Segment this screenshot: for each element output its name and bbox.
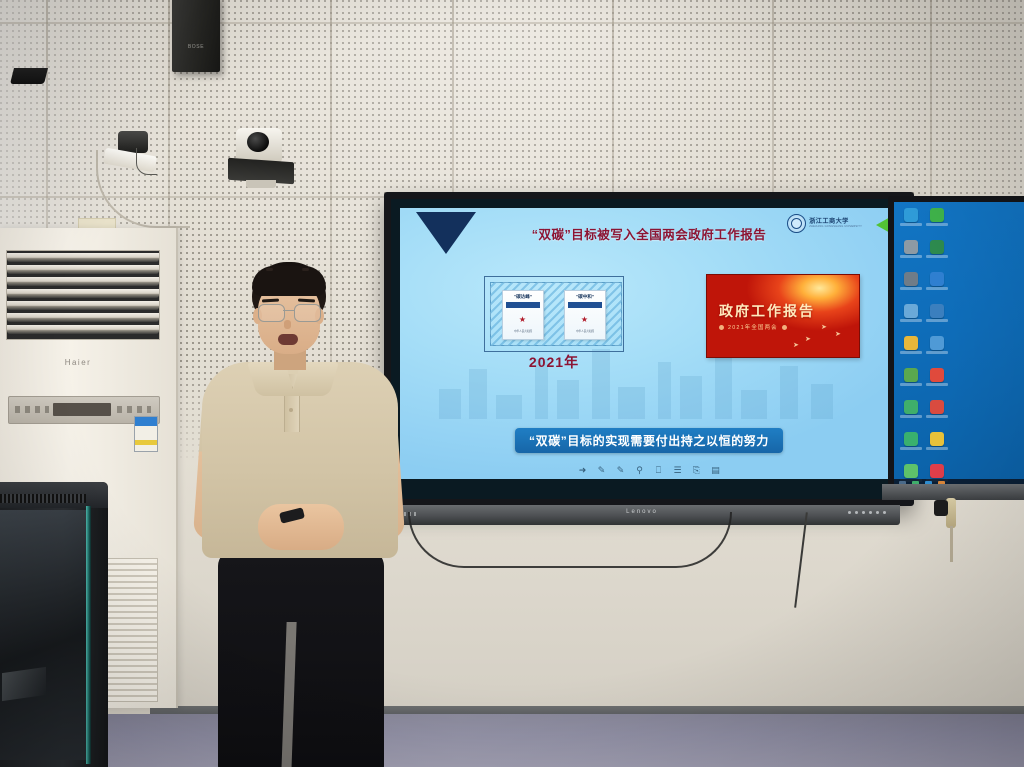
desktop-icon[interactable] <box>924 208 950 234</box>
desktop-icon[interactable] <box>924 272 950 298</box>
grid-icon[interactable]: ▤ <box>711 465 721 475</box>
floor-sheen <box>0 714 1024 767</box>
windows-desktop[interactable] <box>894 202 1024 490</box>
document-band <box>568 302 602 308</box>
star-icon: ★ <box>518 315 527 324</box>
desktop-icon[interactable] <box>898 208 924 234</box>
document-card: “碳中和” ★ 中华人民共和国 <box>564 290 606 340</box>
poster-dot-icon <box>782 325 787 330</box>
desktop-icon[interactable] <box>898 432 924 458</box>
presentation-toolbar[interactable]: ➜ ✎ ✎ ⚲ ⎕ ☰ ⎘ ▤ <box>578 465 721 475</box>
presenter-trousers <box>218 550 384 767</box>
document-footer: 中华人民共和国 <box>565 329 605 333</box>
diagram-year-label: 2021年 <box>478 352 630 372</box>
ptz-camera-icon <box>236 128 282 162</box>
presenter-eye <box>302 268 309 271</box>
camera-lens-icon <box>247 132 269 152</box>
speaker-bracket <box>10 68 48 84</box>
document-card: “碳达峰” ★ 中华人民共和国 <box>502 290 544 340</box>
desktop-icon[interactable] <box>924 400 950 426</box>
display-screen[interactable]: 浙江工商大学 ZHEJIANG GONGSHANG UNIVERSITY “双碳… <box>391 199 907 499</box>
display-cable <box>408 512 732 568</box>
desktop-icon[interactable] <box>898 240 924 266</box>
slide-diagram: “碳达峰” ★ 中华人民共和国 “碳中和” ★ 中华人民共和国 2021年 <box>478 270 630 378</box>
ac-button-group-right[interactable] <box>117 406 151 413</box>
classroom-photo-scene: BOSE Haier <box>0 0 1024 767</box>
poster-dot-icon <box>719 325 724 330</box>
document-caption: “碳中和” <box>565 294 605 300</box>
wall-panel-seam-horizontal <box>0 22 1024 24</box>
desktop-icon[interactable] <box>898 368 924 394</box>
shirt-button <box>289 408 293 412</box>
cursor-icon[interactable]: ➜ <box>578 465 588 475</box>
export-icon[interactable]: ⎘ <box>692 465 702 475</box>
desktop-icon[interactable] <box>924 368 950 394</box>
rack-top-panel <box>0 482 108 508</box>
presenter-nose <box>284 320 291 329</box>
poster-title: 政府工作报告 <box>719 301 815 321</box>
ac-button-group-left[interactable] <box>15 406 49 413</box>
rack-glass-door[interactable] <box>0 510 86 760</box>
slide-banner: “双碳”目标的实现需要付出持之以恒的努力 <box>515 428 783 453</box>
desktop-icon[interactable] <box>898 400 924 426</box>
document-caption: “碳达峰” <box>503 294 543 300</box>
star-icon: ★ <box>580 315 589 324</box>
rack-vent <box>0 494 86 503</box>
presenter-eye <box>266 268 273 271</box>
highlighter-icon[interactable]: ✎ <box>616 465 626 475</box>
glasses-lens <box>294 304 321 322</box>
glass-reflection <box>2 667 46 701</box>
poster-bird-decoration: ➤ ➤ ➤ ➤ <box>791 321 851 347</box>
desktop-icon[interactable] <box>898 336 924 362</box>
desktop-icon[interactable] <box>898 304 924 330</box>
display-control-buttons[interactable] <box>848 511 886 514</box>
monitor-cables <box>940 498 970 538</box>
desktop-icon[interactable] <box>924 240 950 266</box>
glasses-bridge <box>283 310 294 311</box>
energy-label-sticker <box>134 416 158 452</box>
speaker-brand-label: BOSE <box>172 44 220 50</box>
screen-icon[interactable]: ⎕ <box>654 465 664 475</box>
ac-display <box>53 403 111 416</box>
rack-door-edge <box>86 506 91 764</box>
desktop-icon[interactable] <box>924 432 950 458</box>
ptz-camera-mount <box>246 180 276 188</box>
equipment-rack-cabinet <box>0 482 108 767</box>
slide-title: “双碳”目标被写入全国两会政府工作报告 <box>400 224 898 243</box>
poster-subtitle-row: 2021年全国两会 <box>719 323 787 331</box>
interactive-display-panel[interactable]: 浙江工商大学 ZHEJIANG GONGSHANG UNIVERSITY “双碳… <box>384 192 914 506</box>
air-conditioner-grille <box>6 250 160 340</box>
secondary-monitor[interactable] <box>888 196 1024 496</box>
magnifier-icon[interactable]: ⚲ <box>635 465 645 475</box>
desktop-icon[interactable] <box>924 336 950 362</box>
desktop-icon-grid[interactable] <box>898 208 950 496</box>
presenter-fringe <box>252 266 326 296</box>
desktop-icon[interactable] <box>898 272 924 298</box>
list-icon[interactable]: ☰ <box>673 465 683 475</box>
poster-subtitle: 2021年全国两会 <box>728 323 778 331</box>
pen-icon[interactable]: ✎ <box>597 465 607 475</box>
ceiling-speaker: BOSE <box>172 0 220 72</box>
glasses-icon <box>256 304 322 321</box>
document-band <box>506 302 540 308</box>
camera-cable <box>136 148 157 175</box>
presenter-mouth <box>278 334 298 345</box>
presentation-slide[interactable]: 浙江工商大学 ZHEJIANG GONGSHANG UNIVERSITY “双碳… <box>400 208 898 479</box>
glasses-lens <box>258 304 285 322</box>
document-footer: 中华人民共和国 <box>503 329 543 333</box>
presenter <box>196 262 406 767</box>
air-conditioner-brand-label: Haier <box>0 358 158 367</box>
desktop-icon[interactable] <box>924 304 950 330</box>
government-report-poster: 政府工作报告 2021年全国两会 ➤ ➤ ➤ ➤ <box>706 274 860 358</box>
